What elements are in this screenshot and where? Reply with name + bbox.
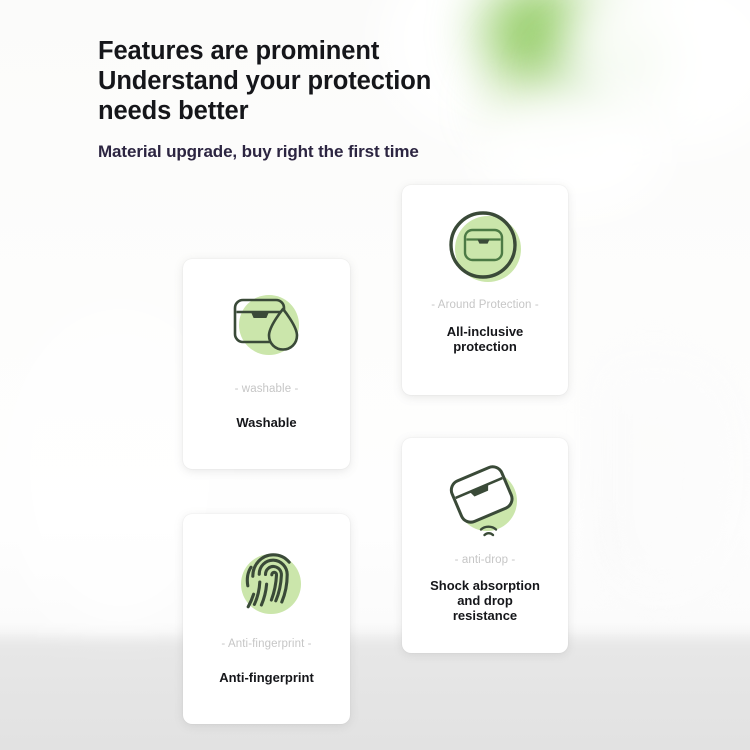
feature-card-anti-drop[interactable]: - anti-drop - Shock absorption and drop … (402, 438, 568, 653)
headline-line-1: Features are prominent (98, 36, 578, 66)
promo-feature-page: Features are prominent Understand your p… (0, 0, 750, 750)
icon-container (437, 456, 533, 548)
card-sub-label: - anti-drop - (455, 554, 516, 566)
earbuds-case-circle-icon (439, 201, 531, 293)
feature-card-anti-fingerprint[interactable]: - Anti-fingerprint - Anti-fingerprint (183, 514, 350, 724)
feature-card-washable[interactable]: - washable - Washable (183, 259, 350, 469)
page-header: Features are prominent Understand your p… (98, 36, 578, 163)
page-subtitle: Material upgrade, buy right the first ti… (98, 126, 578, 163)
icon-container (219, 536, 315, 628)
card-title-line-1: Shock absorption (430, 578, 540, 593)
card-sub-label: - Anti-fingerprint - (221, 638, 311, 650)
card-title-line-1: Washable (236, 415, 296, 430)
headline-line-3: needs better (98, 96, 578, 126)
page-title: Features are prominent Understand your p… (98, 36, 578, 126)
card-sub-label: - Around Protection - (431, 299, 539, 311)
background-soft-shadow (595, 395, 708, 574)
card-title: All-inclusive protection (439, 324, 532, 354)
card-title: Shock absorption and drop resistance (422, 578, 548, 623)
background-white-object-right (596, 356, 746, 596)
fingerprint-icon (221, 540, 313, 624)
feature-card-around-protection[interactable]: - Around Protection - All-inclusive prot… (402, 185, 568, 395)
icon-container (437, 201, 533, 293)
icon-container (219, 281, 315, 373)
earbuds-case-tilted-impact-icon (439, 459, 531, 545)
card-title: Anti-fingerprint (211, 670, 322, 685)
background-floor-surface (0, 632, 750, 750)
card-title-line-2: protection (447, 339, 524, 354)
card-title: Washable (228, 415, 304, 430)
background-green-leaf-4 (604, 2, 656, 54)
card-title-line-1: All-inclusive (447, 324, 524, 339)
card-title-line-1: Anti-fingerprint (219, 670, 314, 685)
card-title-line-2: and drop (430, 593, 540, 608)
earbuds-case-waterdrop-icon (221, 287, 313, 367)
background-white-blossom-2 (560, 0, 750, 150)
headline-line-2: Understand your protection (98, 66, 578, 96)
card-title-line-3: resistance (430, 608, 540, 623)
card-sub-label: - washable - (235, 383, 299, 395)
